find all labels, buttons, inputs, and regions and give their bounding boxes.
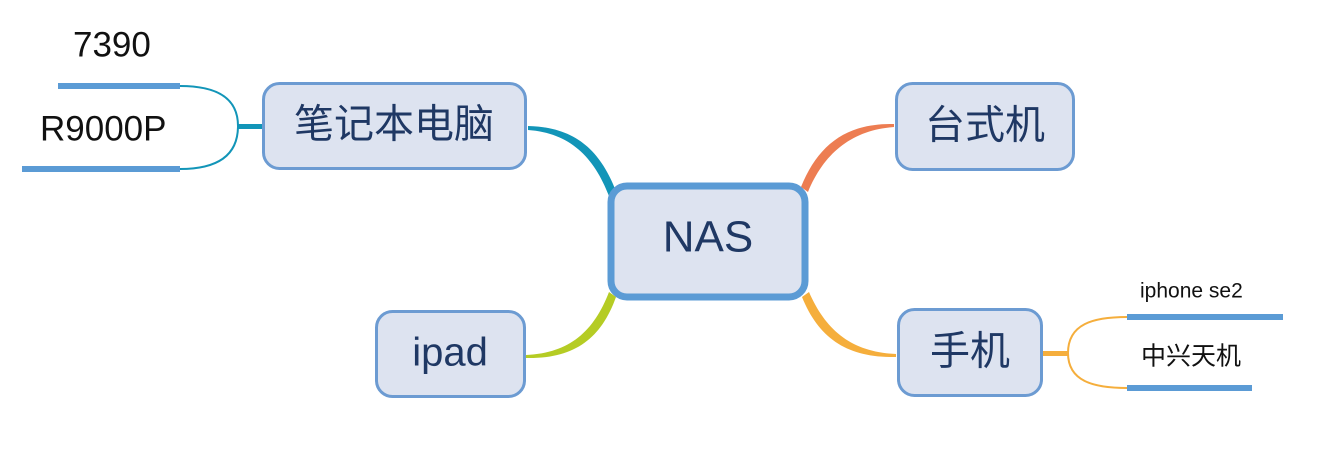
node-label-laptop: 笔记本电脑 xyxy=(294,103,494,147)
leaf-underline-7390 xyxy=(58,83,180,89)
connector-nas-desktop xyxy=(801,124,894,192)
node-label-ipad: ipad xyxy=(412,331,488,375)
connector-nas-ipad xyxy=(526,292,616,358)
leaf-label-iphone-se2: iphone se2 xyxy=(1140,280,1243,303)
connector-phone-iphone xyxy=(1068,317,1127,353)
connector-laptop-stub xyxy=(238,124,263,129)
leaf-label-r9000p: R9000P xyxy=(40,109,166,148)
connector-laptop-7390 xyxy=(180,86,238,126)
connector-nas-phone xyxy=(802,292,896,357)
leaf-underline-r9000p xyxy=(22,166,180,172)
connector-phone-stub xyxy=(1042,351,1068,356)
leaf-label-7390: 7390 xyxy=(73,25,151,64)
connector-laptop-r9000p xyxy=(180,126,238,169)
node-label-desktop: 台式机 xyxy=(925,104,1045,148)
connector-phone-zte xyxy=(1068,353,1127,388)
mindmap-canvas: 7390 R9000P iphone se2 中兴天机 笔记本电脑 台式机 ip… xyxy=(0,0,1320,466)
connector-nas-laptop xyxy=(528,126,616,196)
leaf-underline-zte xyxy=(1127,385,1252,391)
leaf-underline-iphone-se2 xyxy=(1127,314,1283,320)
leaf-label-zte: 中兴天机 xyxy=(1141,343,1241,371)
node-label-nas: NAS xyxy=(663,213,753,262)
node-label-phone: 手机 xyxy=(930,330,1010,374)
mindmap-svg: 7390 R9000P iphone se2 中兴天机 笔记本电脑 台式机 ip… xyxy=(0,0,1320,466)
